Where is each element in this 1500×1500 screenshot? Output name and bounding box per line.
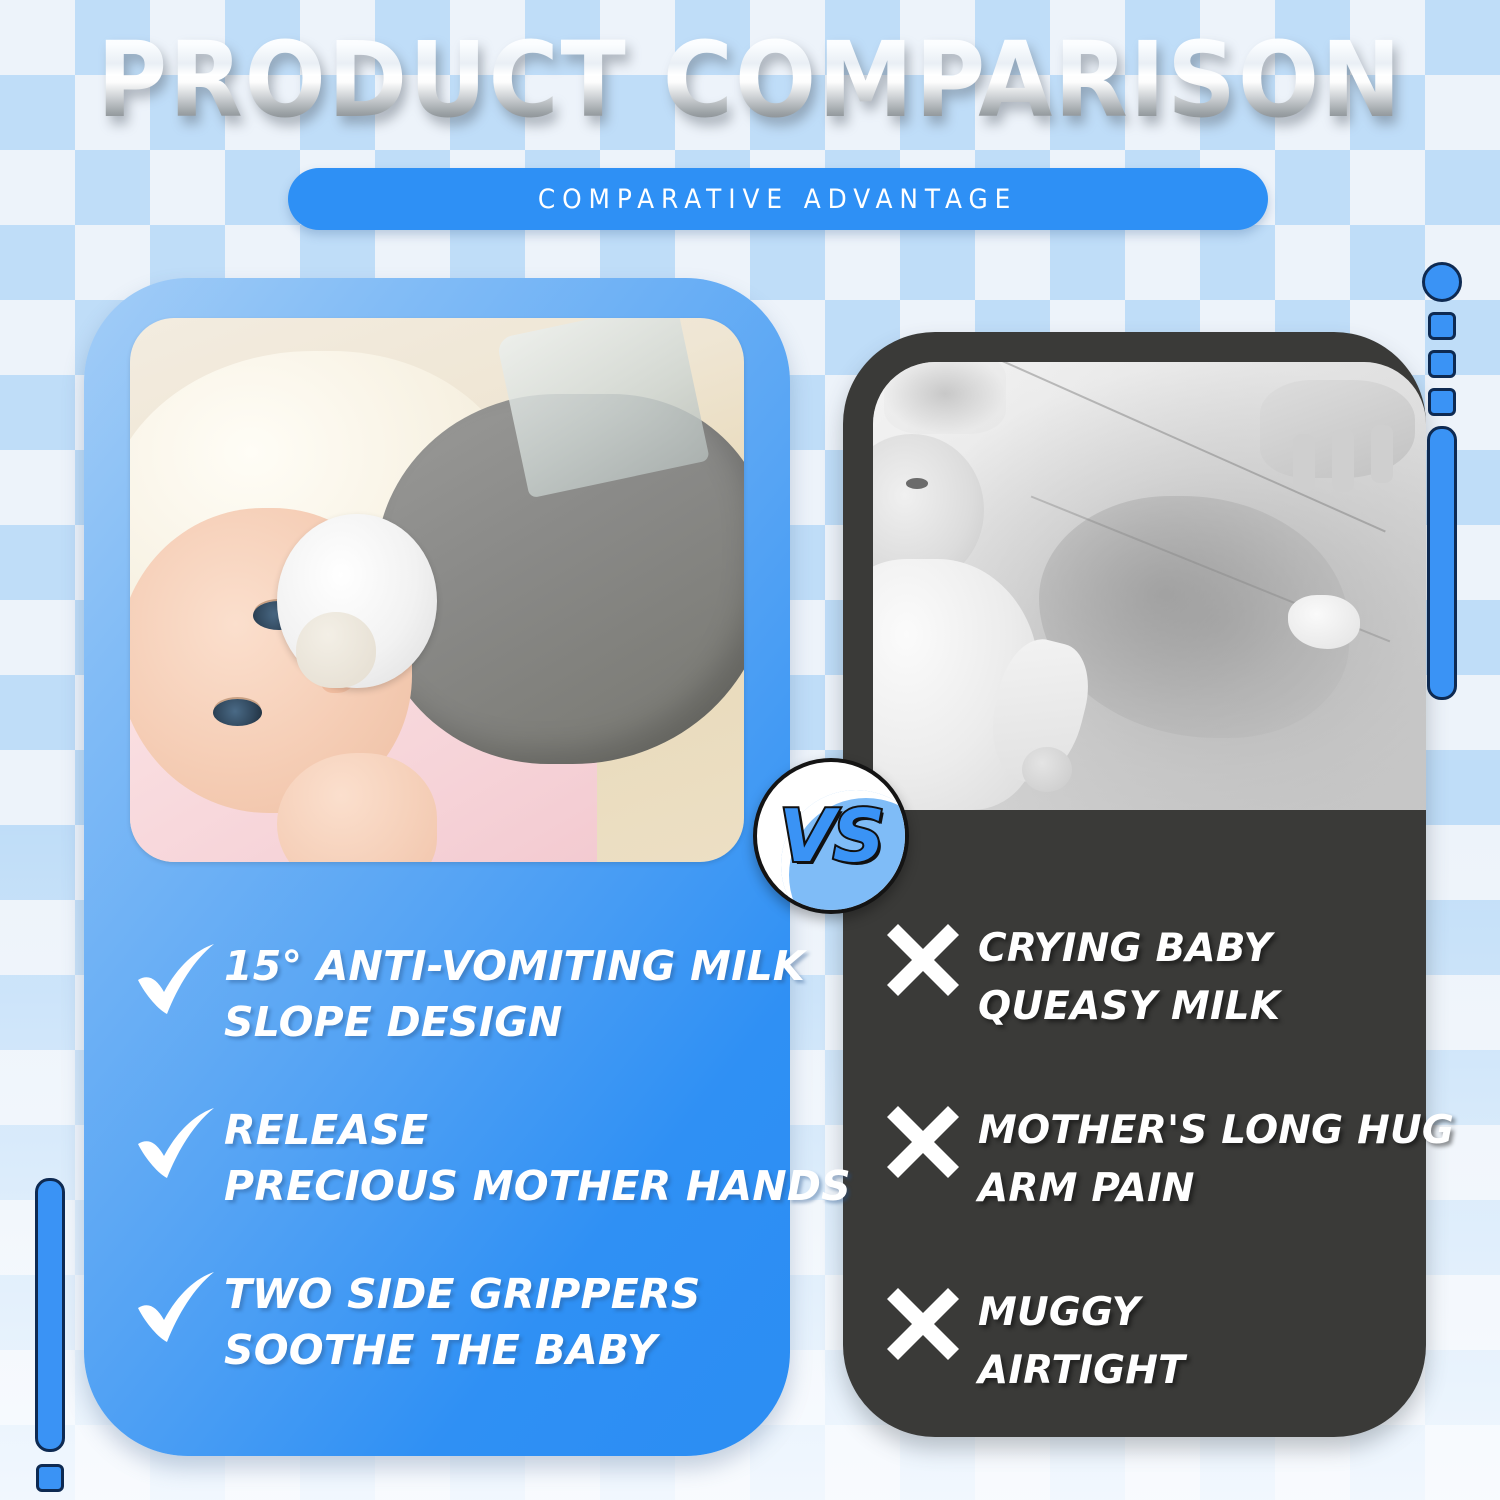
decoration-bar bbox=[1427, 426, 1457, 700]
vs-badge: VS bbox=[753, 758, 909, 914]
banner-label: COMPARATIVE ADVANTAGE bbox=[538, 184, 1017, 215]
decoration-square-icon bbox=[36, 1464, 64, 1492]
check-icon bbox=[128, 1102, 224, 1182]
comparative-advantage-banner: COMPARATIVE ADVANTAGE bbox=[288, 168, 1268, 230]
cross-icon bbox=[868, 1284, 978, 1360]
cons-item-text: MUGGY AIRTIGHT bbox=[978, 1284, 1185, 1400]
decoration-square-icon bbox=[1428, 388, 1456, 416]
decoration-bar bbox=[35, 1178, 65, 1452]
cross-icon bbox=[868, 920, 978, 996]
pros-list-item: 15° ANTI-VOMITING MILK SLOPE DESIGN bbox=[128, 938, 828, 1050]
pros-item-text: RELEASE PRECIOUS MOTHER HANDS bbox=[224, 1102, 851, 1214]
check-icon bbox=[128, 938, 224, 1018]
pros-list-item: TWO SIDE GRIPPERS SOOTHE THE BABY bbox=[128, 1266, 828, 1378]
cons-item-text: MOTHER'S LONG HUG ARM PAIN bbox=[978, 1102, 1454, 1218]
problem-photo-right bbox=[873, 362, 1426, 810]
page-title: PRODUCT COMPARISON bbox=[60, 28, 1440, 132]
pros-list: 15° ANTI-VOMITING MILK SLOPE DESIGN RELE… bbox=[128, 938, 828, 1378]
infographic-canvas: PRODUCT COMPARISON COMPARATIVE ADVANTAGE bbox=[0, 0, 1500, 1500]
cons-item-text: CRYING BABY QUEASY MILK bbox=[978, 920, 1280, 1036]
decoration-square-icon bbox=[1428, 350, 1456, 378]
pros-item-text: TWO SIDE GRIPPERS SOOTHE THE BABY bbox=[224, 1266, 701, 1378]
cons-list-item: MOTHER'S LONG HUG ARM PAIN bbox=[868, 1102, 1428, 1218]
decoration-circle-icon bbox=[1422, 262, 1462, 302]
vs-label: VS bbox=[779, 800, 883, 872]
left-dot-bar-decoration bbox=[30, 1178, 70, 1500]
cons-list: CRYING BABY QUEASY MILK MOTHER'S LONG HU… bbox=[868, 920, 1428, 1400]
pros-item-text: 15° ANTI-VOMITING MILK SLOPE DESIGN bbox=[224, 938, 805, 1050]
pros-list-item: RELEASE PRECIOUS MOTHER HANDS bbox=[128, 1102, 828, 1214]
decoration-square-icon bbox=[1428, 312, 1456, 340]
check-icon bbox=[128, 1266, 224, 1346]
cons-list-item: MUGGY AIRTIGHT bbox=[868, 1284, 1428, 1400]
product-photo-left bbox=[130, 318, 744, 862]
cross-icon bbox=[868, 1102, 978, 1178]
cons-list-item: CRYING BABY QUEASY MILK bbox=[868, 920, 1428, 1036]
right-dot-bar-decoration bbox=[1422, 262, 1462, 700]
